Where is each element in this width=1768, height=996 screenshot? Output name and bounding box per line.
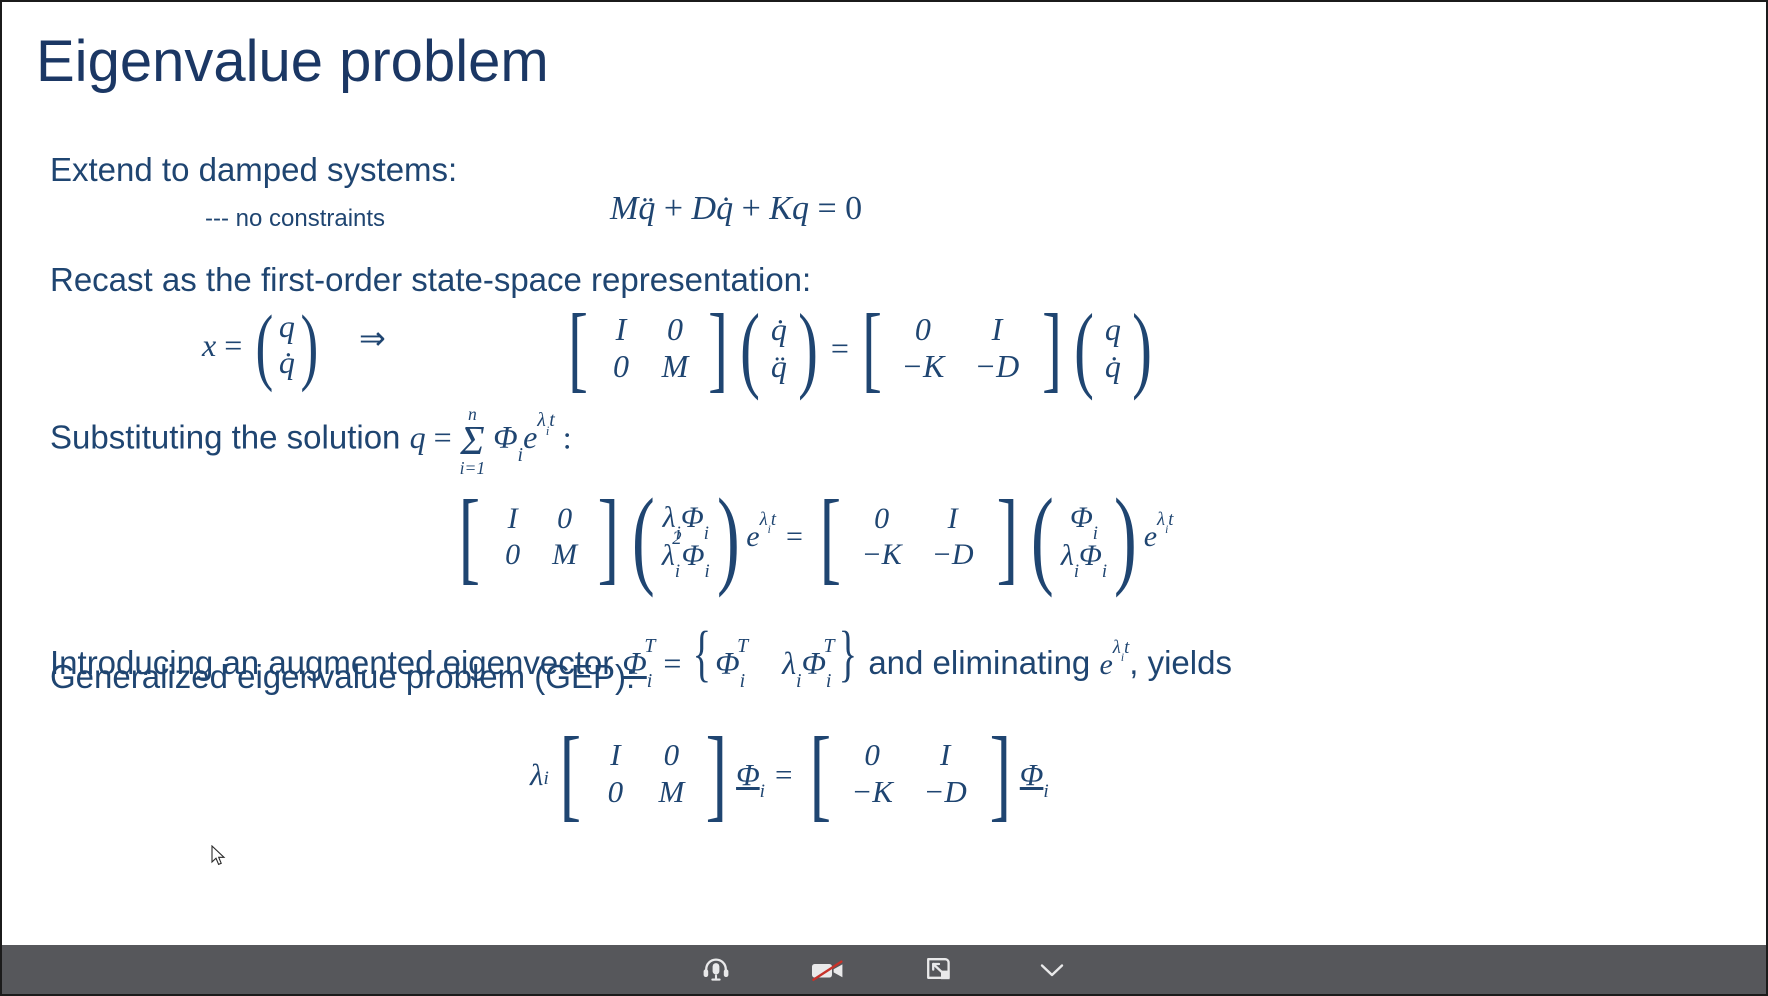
sub-paren-close-right-vec: ) (1114, 482, 1137, 592)
sub-lv1-phi-sub: i (704, 561, 709, 582)
brace-open: { (693, 617, 711, 693)
line-recast-state-space: Recast as the first-order state-space re… (50, 260, 811, 300)
sol-exp-lambda: λ (537, 409, 546, 431)
introducing-mid-text: and eliminating (868, 644, 1090, 681)
sub-equals: = (786, 522, 803, 552)
sub-left-m-10: 0 (487, 537, 539, 573)
substituting-prefix-text: Substituting the solution (50, 418, 400, 455)
sub-rv1-lambda-sub: i (1074, 561, 1079, 582)
eom-plus-1: + (664, 190, 683, 227)
sub-left-exp-lambda: λ (760, 509, 768, 530)
gep-eigvec-right-sub: i (1043, 781, 1048, 802)
gep-matrix-equation: λi [ I 0 0 M ] Φi = [ 0 I (530, 722, 1049, 826)
ss-left-m-00: I (594, 311, 648, 348)
line-generalized-eigenvalue-problem: Generalized eigenvalue problem (GEP): (50, 657, 635, 697)
ss-right-v-0: q (1100, 311, 1126, 348)
sol-equals: = (434, 419, 452, 455)
gep-eigvec-right-phi: Φ (1020, 757, 1044, 792)
statevec-top: q (279, 309, 295, 345)
introducing-suffix-text: , yields (1129, 644, 1232, 681)
line-substituting-solution: Substituting the solution q = n Σ i=1 Φi… (50, 406, 572, 476)
sub-rv0-phi: Φ (1070, 501, 1093, 534)
ss-left-m-01: 0 (648, 311, 702, 348)
gep-equals: = (775, 759, 792, 790)
gep-eigvec-left: Φi (736, 759, 765, 790)
sol-exp-base: e (523, 419, 537, 455)
eom-plus-2: + (742, 190, 761, 227)
sub-lv0-phi-sub: i (704, 523, 709, 544)
ss-right-m-00: 0 (888, 311, 958, 348)
sub-bracket-close-left: ] (597, 485, 618, 589)
share-screen-icon (925, 956, 955, 984)
aug-exp-t: t (1124, 637, 1129, 658)
aug-e2-sup: T (824, 635, 835, 657)
sol-q: q (410, 419, 426, 455)
aug-e1-sup: T (737, 635, 748, 657)
meeting-control-toolbar (0, 945, 1768, 996)
sub-lv1-lambda-sub: i (675, 561, 680, 582)
gep-bracket-open-left: [ (559, 722, 580, 826)
sub-right-exp-sup: λit (1157, 509, 1173, 530)
sol-exp: λit (537, 409, 555, 431)
aug-e2-phi: Φ (802, 645, 826, 681)
sum-sigma: Σ (460, 422, 484, 460)
slide-title: Eigenvalue problem (36, 32, 549, 93)
state-vector-definition: x = ( q q̇ ) (202, 302, 324, 388)
paren-close-left-vec: ) (798, 300, 818, 396)
sub-paren-open-left-vec: ( (632, 482, 655, 592)
sub-right-exp-base: e (1144, 520, 1157, 553)
aug-e2-lambda: λ (782, 645, 796, 681)
sub-paren-close-left-vec: ) (717, 482, 740, 592)
ss-right-m-10: −K (888, 348, 958, 385)
gep-eigvec-left-sub: i (760, 781, 765, 802)
sub-left-v-0: λiΦi (663, 499, 709, 537)
ss-left-v-1: q̈ (766, 348, 792, 385)
substituting-suffix-colon: : (563, 419, 572, 455)
sub-rv1-phi: Φ (1079, 539, 1102, 572)
paren-open: ( (256, 302, 274, 388)
aug-e1-sub: i (740, 670, 746, 692)
camera-off-button[interactable] (801, 948, 855, 992)
gep-eigvec-left-phi: Φ (736, 757, 760, 792)
equation-of-motion: Mq̈ + Dq̇ + Kq = 0 (610, 192, 862, 226)
statevec-bottom: q̇ (279, 345, 295, 381)
sub-rv0-phi-sub: i (1093, 523, 1098, 544)
sub-right-v-0: Φi (1070, 499, 1098, 537)
sub-right-exp-t: t (1168, 509, 1173, 530)
gep-bracket-close-left: ] (706, 722, 727, 826)
bracket-close-right: ] (1042, 300, 1062, 396)
sub-left-exp: eλit (746, 522, 776, 552)
eom-M: M (610, 190, 638, 227)
statevec-x: x (202, 329, 216, 361)
chevron-down-icon (1037, 959, 1067, 981)
sub-lv0-phi: Φ (681, 501, 704, 534)
aug-e1-phi: Φ (715, 645, 739, 681)
ss-left-m-10: 0 (594, 348, 648, 385)
eom-equals: = (817, 190, 836, 227)
more-options-button[interactable] (1025, 948, 1079, 992)
sub-left-exp-lambda-sub: i (768, 524, 771, 536)
sub-right-exp-lambda: λ (1157, 509, 1165, 530)
aug-phi-sup: T (644, 635, 655, 657)
aug-exp: eλit (1099, 648, 1129, 681)
sub-rv1-phi-sub: i (1102, 561, 1107, 582)
ss-left-v-0: q̇ (766, 311, 792, 348)
headset-icon (701, 955, 731, 985)
sub-bracket-close-right: ] (996, 485, 1017, 589)
gep-bracket-close-right: ] (990, 722, 1011, 826)
sub-right-m-00: 0 (848, 501, 916, 537)
ss-left-m-11: M (648, 348, 702, 385)
sub-lv1-lambda-sup: 2 (672, 528, 681, 549)
eom-D: D (692, 190, 717, 227)
sol-phi-sub: i (518, 444, 524, 466)
ss-right-v-1: q̇ (1100, 348, 1126, 385)
eom-q: q (792, 190, 809, 227)
sub-paren-open-right-vec: ( (1031, 482, 1054, 592)
aug-exp-lambda-sub: i (1121, 652, 1124, 664)
note-no-constraints: --- no constraints (205, 205, 385, 233)
paren-open-left-vec: ( (740, 300, 760, 396)
gep-right-m-11: −D (907, 774, 983, 811)
aug-exp-base: e (1099, 648, 1112, 681)
sub-left-exp-sup: λit (760, 509, 776, 530)
sub-right-exp: eλit (1144, 522, 1174, 552)
paren-close-right-vec: ) (1132, 300, 1152, 396)
gep-left-m-11: M (643, 774, 699, 811)
summation-operator: n Σ i=1 (460, 406, 486, 476)
aug-exp-lambda: λ (1113, 637, 1121, 658)
sub-right-v-1: λiΦi (1061, 537, 1107, 575)
bracket-close-left: ] (708, 300, 728, 396)
sub-left-m-01: 0 (539, 501, 591, 537)
eom-qddot: q̈ (638, 190, 655, 227)
sub-left-m-00: I (487, 501, 539, 537)
aug-exp-sup: λit (1113, 637, 1129, 658)
gep-left-m-10: 0 (587, 774, 643, 811)
sub-right-m-10: −K (848, 537, 916, 573)
audio-headset-button[interactable] (689, 948, 743, 992)
gep-bracket-open-right: [ (809, 722, 830, 826)
gep-left-m-00: I (587, 737, 643, 774)
paren-open-right-vec: ( (1074, 300, 1094, 396)
sub-right-m-11: −D (916, 537, 990, 573)
sub-left-v-1: λi2Φi (662, 537, 710, 575)
sum-lower-limit: i=1 (460, 460, 486, 476)
sol-exp-t: t (549, 409, 555, 431)
sub-bracket-open-left: [ (459, 485, 480, 589)
aug-phi-sub: i (647, 670, 653, 692)
sub-right-m-01: I (916, 501, 990, 537)
eom-qdot: q̇ (716, 190, 733, 227)
aug-e2-phi-sub: i (826, 670, 832, 692)
camera-off-icon (810, 956, 846, 984)
sub-lv1-phi: Φ (682, 539, 705, 572)
paren-close: ) (300, 302, 318, 388)
sub-left-exp-base: e (746, 520, 759, 553)
eom-zero: 0 (845, 190, 862, 227)
ss-equals: = (831, 332, 849, 364)
sol-exp-lambda-sub: i (546, 424, 549, 438)
gep-right-m-00: 0 (837, 737, 907, 774)
eom-K: K (769, 190, 792, 227)
ss-right-m-01: I (958, 311, 1036, 348)
gep-eigvec-right: Φi (1020, 759, 1049, 790)
sub-right-exp-lambda-sub: i (1165, 524, 1168, 536)
state-space-matrix-equation: [ I 0 0 M ] ( q̇ q̈ ) = [ (562, 300, 1158, 396)
share-screen-button[interactable] (913, 948, 967, 992)
mouse-cursor-icon (211, 845, 227, 867)
bracket-open-left: [ (568, 300, 588, 396)
substituted-matrix-equation: [ I 0 0 M ] ( λiΦi λi2Φi (452, 482, 1173, 592)
sub-bracket-open-right: [ (820, 485, 841, 589)
sub-left-m-11: M (539, 537, 591, 573)
sub-rv1-lambda: λ (1061, 539, 1074, 572)
gep-right-m-01: I (907, 737, 983, 774)
ss-right-m-11: −D (958, 348, 1036, 385)
implies-arrow: ⇒ (359, 322, 386, 354)
aug-equals: = (663, 645, 681, 681)
statevec-equals: = (224, 329, 242, 361)
sol-phi: Φ (493, 419, 517, 455)
aug-e2-lambda-sub: i (796, 670, 802, 692)
bracket-open-right: [ (862, 300, 882, 396)
gep-left-m-01: 0 (643, 737, 699, 774)
brace-close: } (838, 617, 856, 693)
gep-lambda: λ (530, 759, 543, 790)
shared-slide-area: Eigenvalue problem Extend to damped syst… (0, 0, 1768, 945)
line-extend-to-damped-systems: Extend to damped systems: (50, 150, 457, 190)
gep-right-m-10: −K (837, 774, 907, 811)
sub-left-exp-t: t (771, 509, 776, 530)
